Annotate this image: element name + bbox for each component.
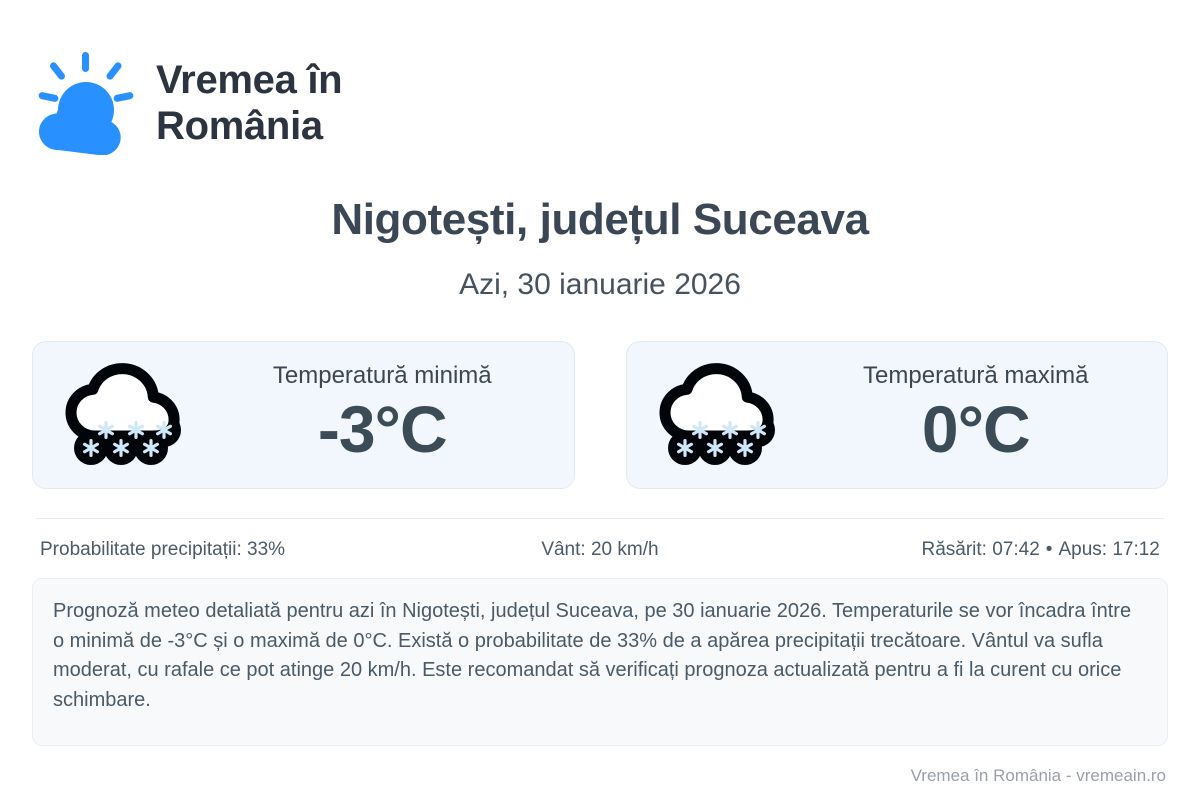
sunrise-value: Răsărit: 07:42 [922,539,1040,560]
min-temperature-info: Temperatură minimă -3°C [211,361,554,469]
wind-stat: Vânt: 20 km/h [411,536,790,564]
page-title: Nigotești, județul Suceava [0,193,1200,247]
max-temperature-value: 0°C [922,393,1030,465]
sun-times-stat: Răsărit: 07:42•Apus: 17:12 [789,536,1168,564]
min-temperature-card: Temperatură minimă -3°C [32,341,575,489]
precipitation-stat: Probabilitate precipitații: 33% [32,536,411,564]
sunset-value: Apus: 17:12 [1058,539,1159,560]
sun-behind-cloud-icon [32,50,140,155]
weather-stats: Probabilitate precipitații: 33% Vânt: 20… [32,536,1168,564]
footer-credit: Vremea în România - vremeain.ro [911,764,1166,788]
max-temperature-label: Temperatură maximă [863,361,1088,391]
site-header: Vremea în România [32,50,342,155]
max-temperature-card: Temperatură maximă 0°C [626,341,1169,489]
min-temperature-label: Temperatură minimă [273,361,492,391]
forecast-description-box: Prognoză meteo detaliată pentru azi în N… [32,578,1168,746]
max-temperature-info: Temperatură maximă 0°C [805,361,1148,469]
snow-cloud-icon [655,360,783,470]
sun-separator: • [1040,539,1059,560]
date-subtitle: Azi, 30 ianuarie 2026 [0,266,1200,304]
snow-cloud-icon [61,360,189,470]
brand-name: Vremea în România [156,57,342,149]
forecast-description-text: Prognoză meteo detaliată pentru azi în N… [53,597,1141,715]
min-temperature-value: -3°C [318,393,447,465]
temperature-cards: Temperatură minimă -3°C [32,341,1168,489]
weather-page: Vremea în România Nigotești, județul Suc… [0,0,1200,800]
stats-divider [36,518,1164,519]
